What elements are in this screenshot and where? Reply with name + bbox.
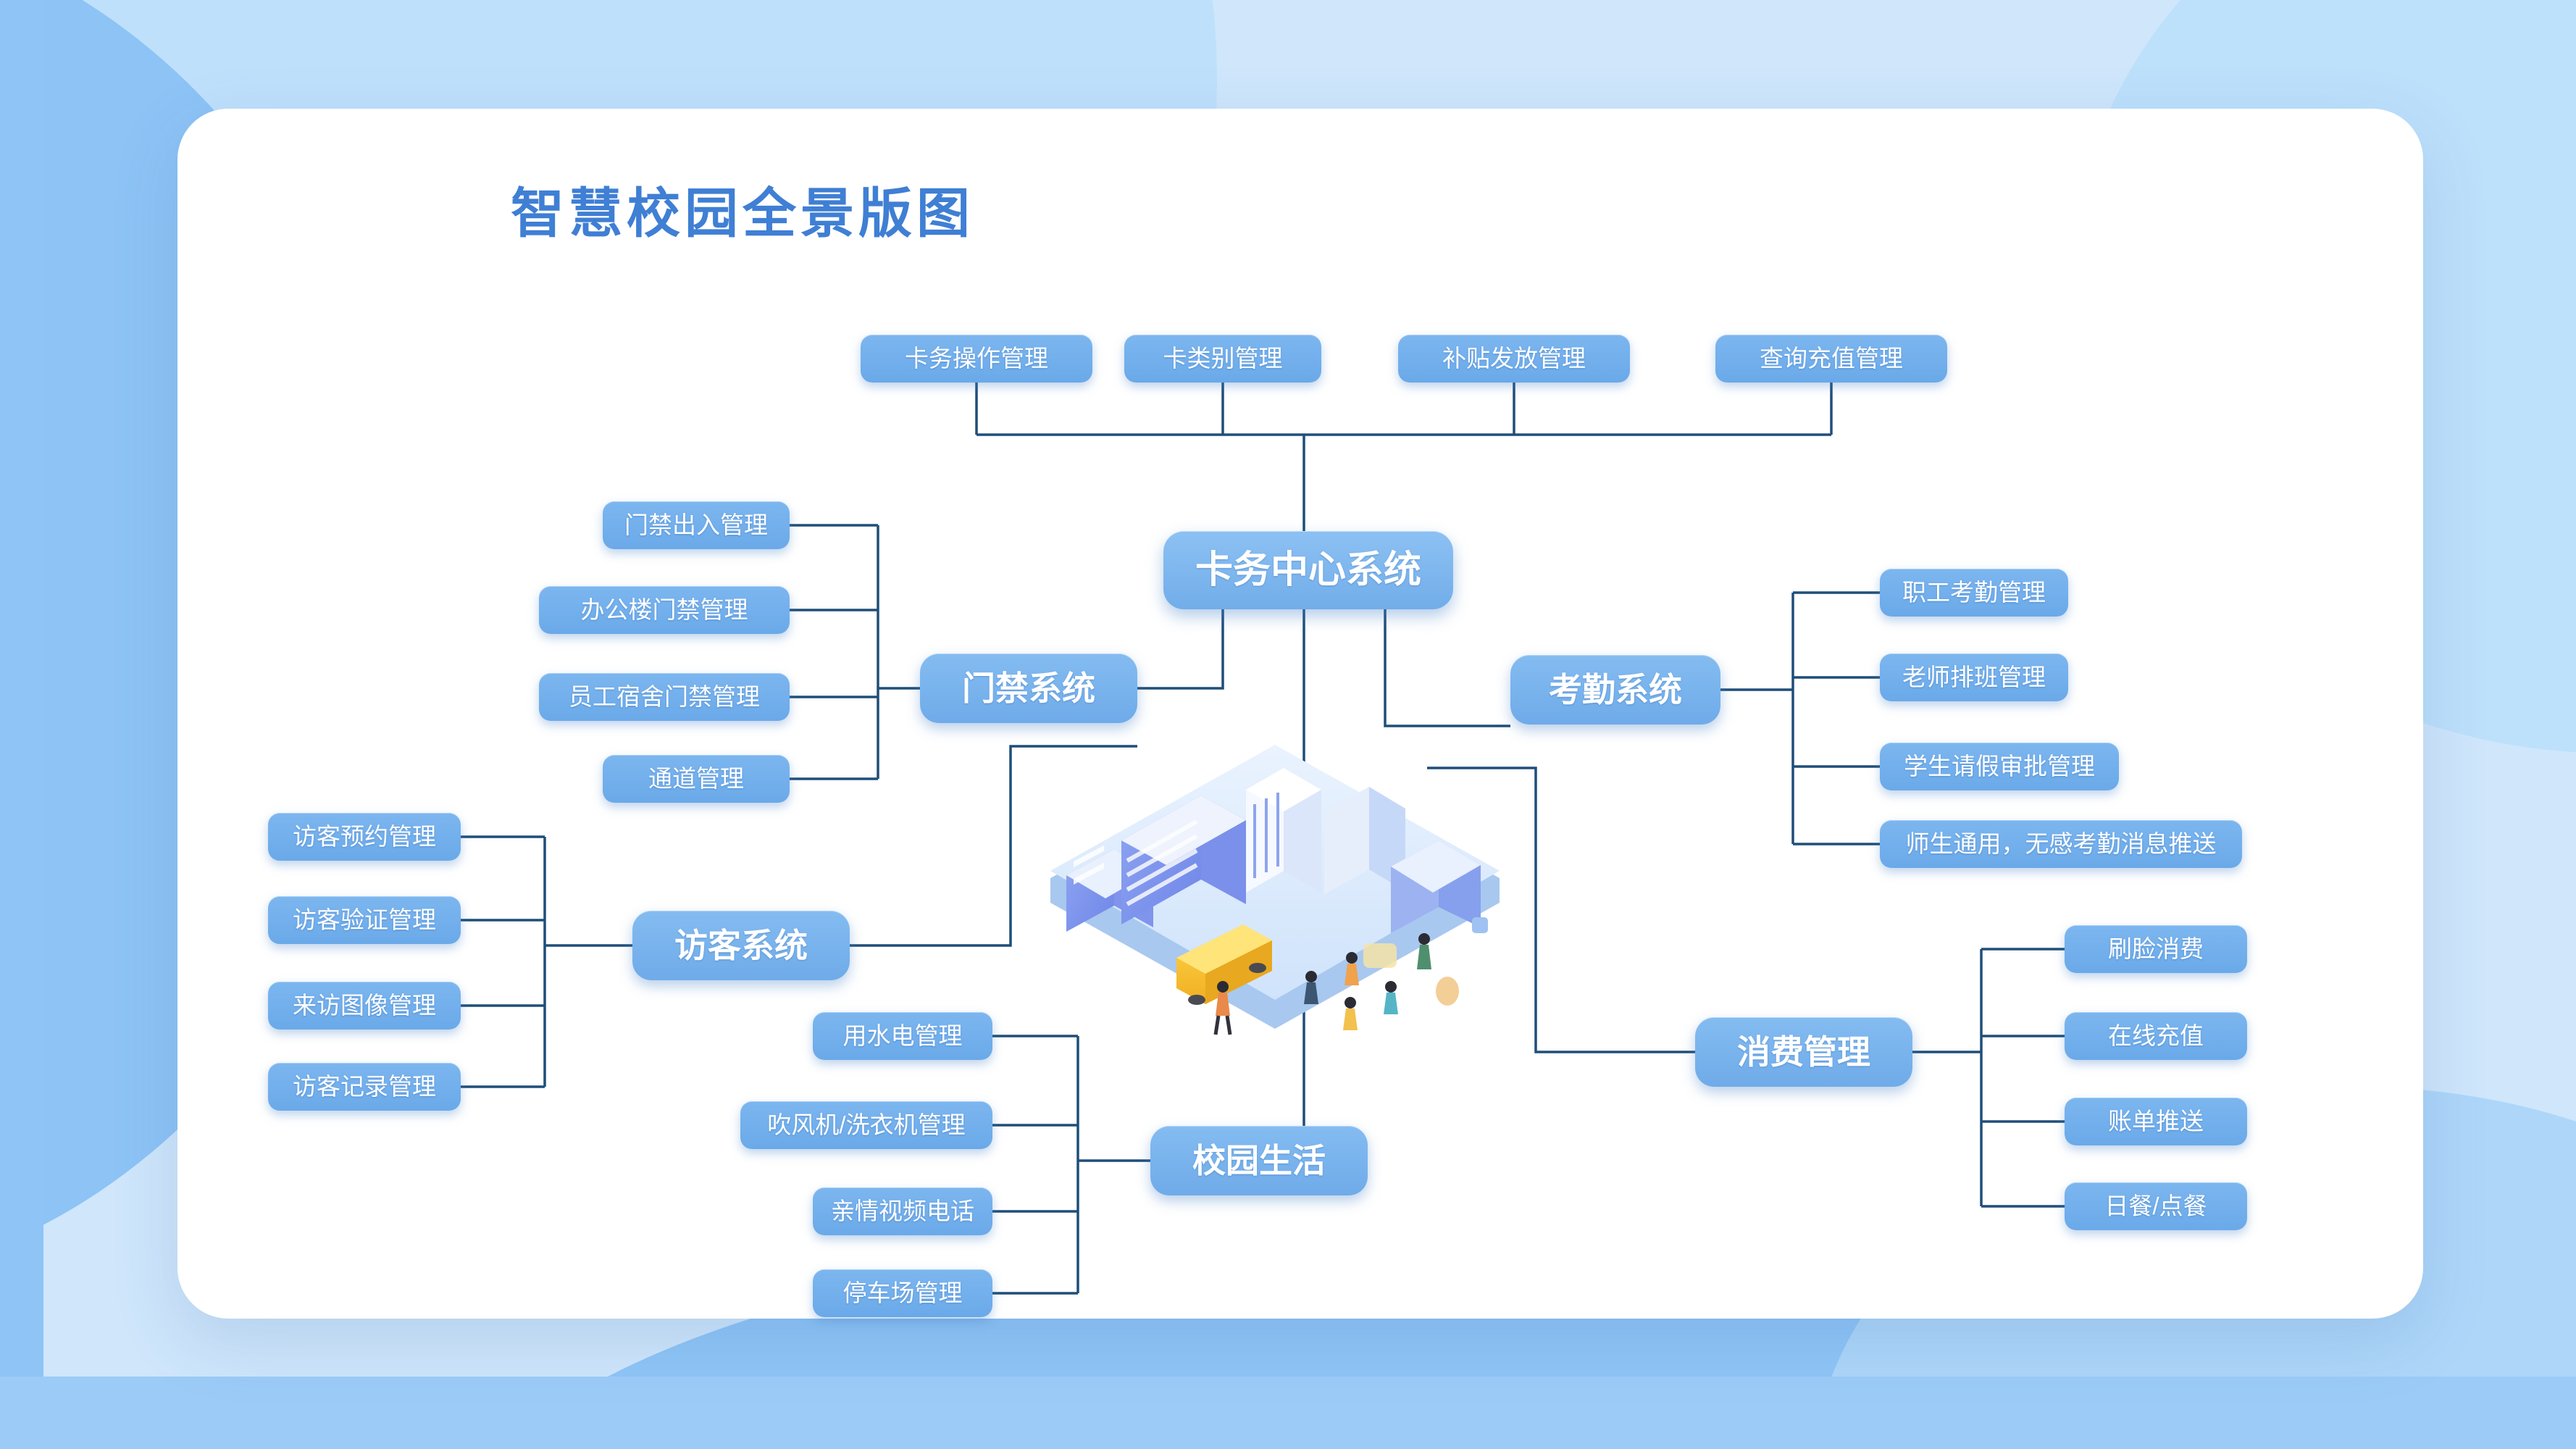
node-card-category-management[interactable]: 卡类别管理 [1124,335,1321,383]
node-staff-dormitory-access-management[interactable]: 员工宿舍门禁管理 [539,673,790,721]
node-label: 办公楼门禁管理 [581,598,748,623]
node-passage-management[interactable]: 通道管理 [603,755,790,803]
node-visitor-record-management[interactable]: 访客记录管理 [268,1063,461,1111]
node-face-recognition-payment[interactable]: 刷脸消费 [2065,925,2247,973]
node-subsidy-distribution-management[interactable]: 补贴发放管理 [1398,335,1630,383]
node-query-recharge-management[interactable]: 查询充值管理 [1715,335,1947,383]
node-label: 用水电管理 [843,1024,963,1049]
branch-consumption-management[interactable]: 消费管理 [1695,1017,1912,1087]
node-label: 吹风机/洗衣机管理 [767,1113,965,1138]
node-label: 账单推送 [2108,1109,2204,1135]
node-water-electricity-management[interactable]: 用水电管理 [813,1012,992,1060]
node-daily-meal-ordering[interactable]: 日餐/点餐 [2065,1182,2247,1230]
node-label: 员工宿舍门禁管理 [569,685,760,710]
node-online-recharge[interactable]: 在线充值 [2065,1012,2247,1060]
node-label: 师生通用，无感考勤消息推送 [1906,832,2217,857]
background-strip-bottom [0,1377,2576,1449]
node-label: 卡务操作管理 [905,346,1048,372]
node-label: 访客系统 [674,928,808,963]
node-label: 职工考勤管理 [1902,580,2046,606]
node-visitor-verification-management[interactable]: 访客验证管理 [268,896,461,944]
node-label: 访客记录管理 [293,1074,436,1100]
node-label: 校园生活 [1192,1143,1326,1178]
page-title: 智慧校园全景版图 [511,170,974,248]
node-bill-push[interactable]: 账单推送 [2065,1098,2247,1145]
node-visitor-image-management[interactable]: 来访图像管理 [268,982,461,1030]
node-parking-lot-management[interactable]: 停车场管理 [813,1269,992,1317]
node-card-center-system-hub[interactable]: 卡务中心系统 [1163,531,1453,609]
node-label: 亲情视频电话 [831,1199,974,1224]
background-strip-left [0,0,43,1449]
node-hairdryer-washing-machine-management[interactable]: 吹风机/洗衣机管理 [740,1101,992,1149]
node-label: 卡务中心系统 [1195,551,1421,590]
node-visitor-appointment-management[interactable]: 访客预约管理 [268,813,461,861]
node-label: 刷脸消费 [2108,937,2204,962]
node-label: 门禁出入管理 [624,513,768,538]
campus-illustration [1029,688,1521,1036]
branch-access-control-system[interactable]: 门禁系统 [920,653,1137,723]
node-label: 学生请假审批管理 [1904,754,2095,780]
node-label: 日餐/点餐 [2104,1194,2207,1219]
node-family-video-call[interactable]: 亲情视频电话 [813,1187,992,1235]
node-label: 访客预约管理 [293,824,436,850]
node-label: 访客验证管理 [293,908,436,933]
node-label: 门禁系统 [962,671,1095,706]
page-title-text: 智慧校园全景版图 [511,183,974,243]
node-access-entry-exit-management[interactable]: 门禁出入管理 [603,501,790,549]
node-staff-attendance-management[interactable]: 职工考勤管理 [1880,569,2068,617]
node-label: 补贴发放管理 [1442,346,1586,372]
node-label: 停车场管理 [843,1281,963,1306]
node-label: 通道管理 [648,767,744,792]
branch-campus-life[interactable]: 校园生活 [1150,1126,1368,1195]
node-label: 老师排班管理 [1902,665,2046,690]
node-card-operation-management[interactable]: 卡务操作管理 [861,335,1092,383]
node-label: 消费管理 [1737,1035,1870,1069]
node-label: 查询充值管理 [1760,346,1903,372]
node-label: 考勤系统 [1549,672,1682,707]
branch-visitor-system[interactable]: 访客系统 [632,911,850,980]
node-label: 在线充值 [2108,1024,2204,1049]
node-office-building-access-management[interactable]: 办公楼门禁管理 [539,586,790,634]
node-teacher-shift-management[interactable]: 老师排班管理 [1880,653,2068,701]
branch-attendance-system[interactable]: 考勤系统 [1510,655,1720,724]
node-label: 来访图像管理 [293,993,436,1019]
node-student-leave-approval-management[interactable]: 学生请假审批管理 [1880,743,2119,790]
node-label: 卡类别管理 [1163,346,1283,372]
node-unified-contactless-attendance-push[interactable]: 师生通用，无感考勤消息推送 [1880,820,2242,868]
